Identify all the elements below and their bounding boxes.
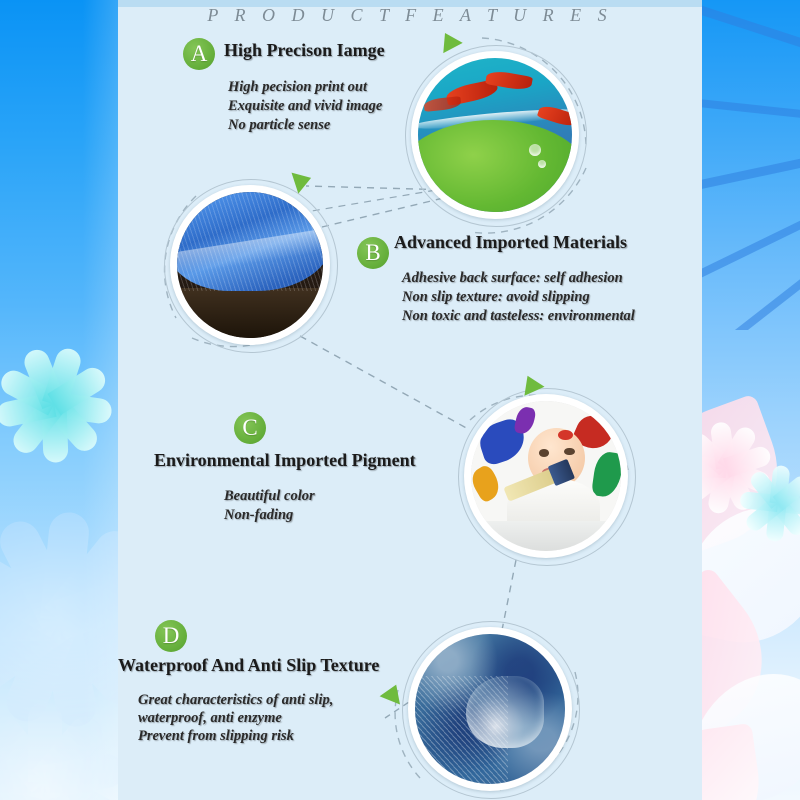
heading-a: High Precison Iamge [224,40,385,61]
petal-icon [45,606,118,712]
body-a-line-2: Exquisite and vivid image [228,97,382,116]
petal-icon [0,515,78,629]
petal-icon [52,392,113,425]
body-d-line-1: Great characteristics of anti slip, [138,691,333,710]
petal-icon [2,776,61,800]
petal-icon [0,710,58,793]
ring-b [164,179,338,353]
petal-icon [44,523,118,632]
left-flower-icon [0,332,114,452]
petal-icon [0,548,70,637]
petal-icon [0,751,48,798]
body-b-line-1: Adhesive back surface: self adhesion [402,269,623,288]
petal-icon [42,751,118,798]
left-sunburst-small-icon [0,690,118,800]
right-cyan-flower-icon [738,455,800,535]
petal-icon [0,767,53,800]
petal-icon [0,600,61,644]
product-features-poster: P R O D U C T F E A T U R E S [0,0,800,800]
facet-shard-icon [702,210,800,279]
petal-icon [0,392,57,429]
petal-icon [29,776,88,800]
facet-shard-icon [702,262,800,330]
petal-icon [42,404,69,463]
page-title: P R O D U C T F E A T U R E S [118,5,702,26]
petal-icon [37,767,119,800]
petal-icon [45,396,102,456]
petal-icon [40,511,91,622]
badge-b: B [357,237,389,269]
petal-icon [1,612,79,727]
petal-icon [55,601,118,666]
body-d-line-3: Prevent from slipping risk [138,727,294,746]
petal-icon [0,366,60,415]
facet-shard-icon [702,0,800,57]
heading-d: Waterproof And Anti Slip Texture [118,655,379,676]
petal-icon [42,345,84,408]
ring-a [405,45,587,227]
ring-c [458,388,636,566]
petal-icon [40,616,99,729]
body-b-line-3: Non toxic and tasteless: environmental [402,307,635,326]
badge-d: D [155,620,187,652]
petal-icon [0,604,71,699]
petal-icon [21,346,66,409]
petal-icon [47,363,109,415]
right-facet-shards-icon [702,0,800,330]
right-decorative-band [702,0,800,800]
body-a-line-3: No particle sense [228,116,330,135]
ring-d [402,621,580,799]
petal-icon [32,710,109,793]
heading-c: Environmental Imported Pigment [154,450,416,471]
facet-shard-icon [702,96,800,120]
facet-shard-icon [702,152,800,198]
body-b-line-2: Non slip texture: avoid slipping [402,288,590,307]
heading-b: Advanced Imported Materials [394,232,627,253]
badge-c: C [234,412,266,444]
badge-a: A [183,38,215,70]
body-c-line-2: Non-fading [224,506,293,525]
petal-icon [54,566,118,639]
left-sunburst-large-icon [0,500,118,700]
petal-icon [28,702,62,782]
body-a-line-1: High pecision print out [228,78,367,97]
left-decorative-band [0,0,118,800]
body-c-line-1: Beautiful color [224,487,315,506]
petal-icon [8,397,63,458]
body-d-line-2: waterproof, anti enzyme [138,709,282,728]
